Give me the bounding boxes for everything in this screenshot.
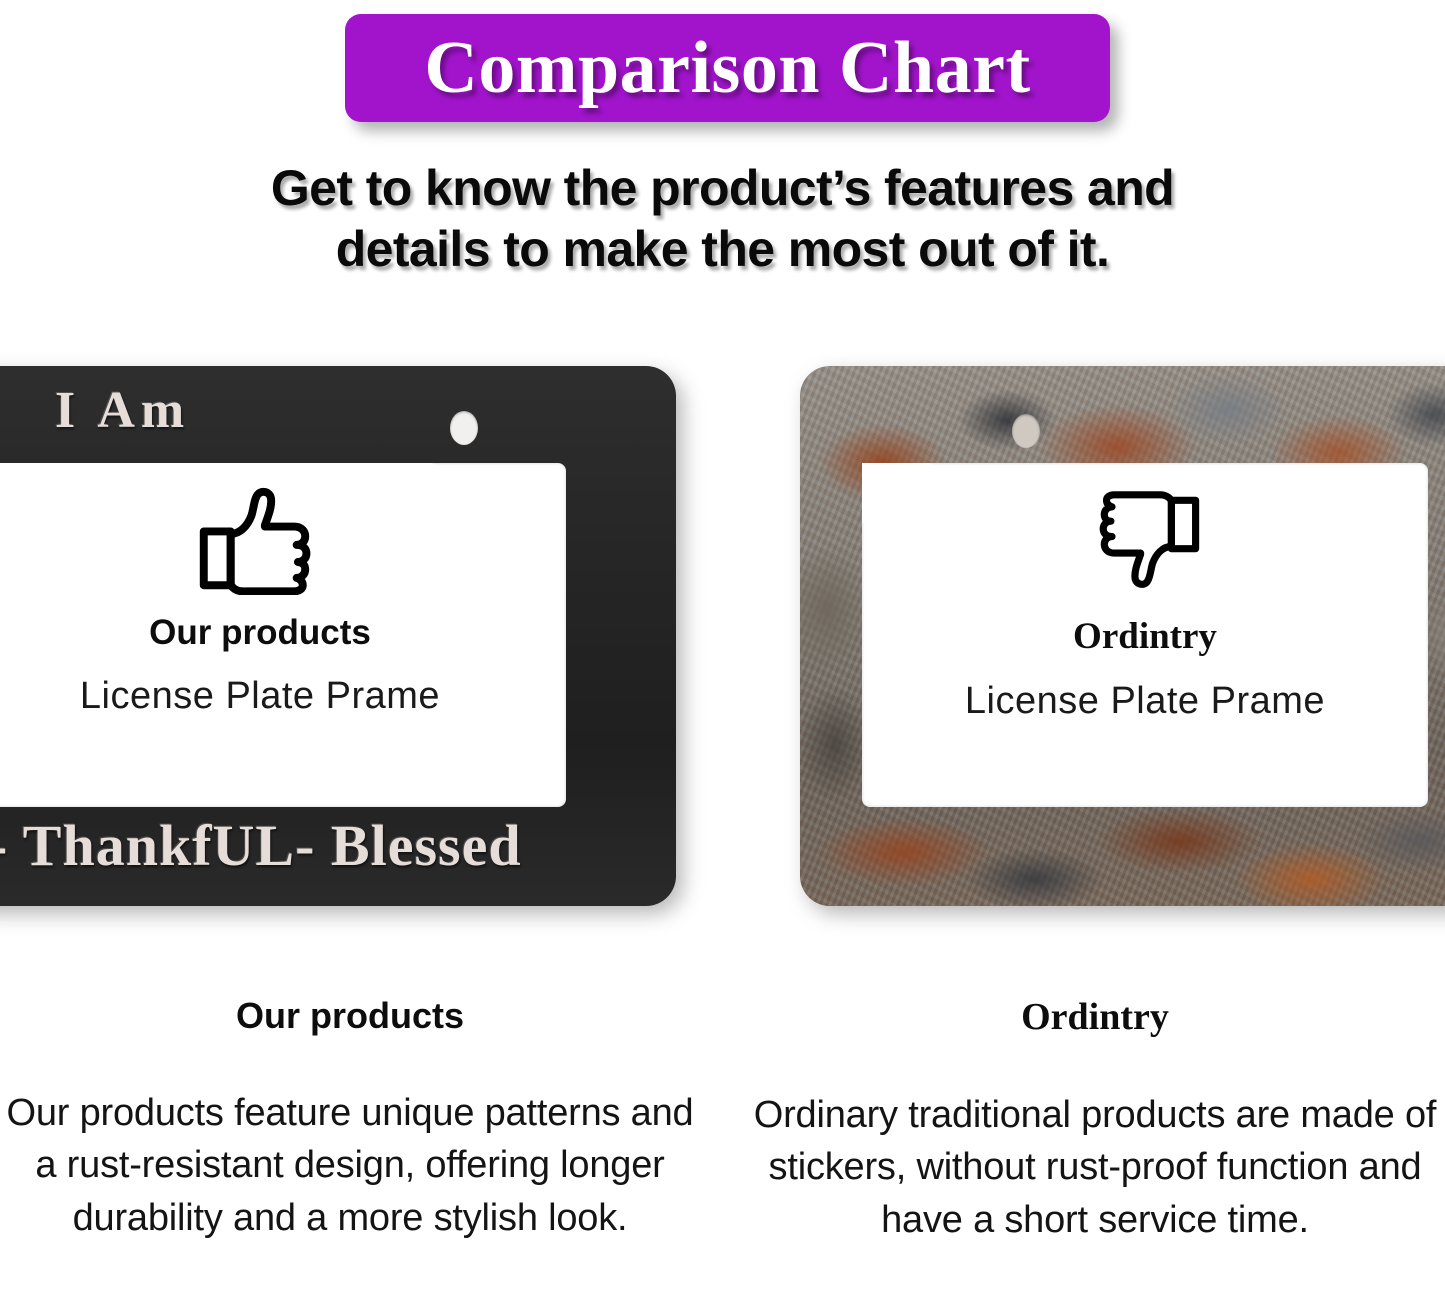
mounting-hole-ordinary — [1012, 414, 1040, 448]
plate-content-ours: Our products License Plate Prame — [0, 485, 566, 718]
plate-content-ordinary: Ordintry License Plate Prame — [862, 485, 1428, 723]
description-heading-ours: Our products — [0, 995, 700, 1037]
description-heading-ordinary: Ordintry — [745, 995, 1445, 1039]
frame-bottom-engraved-text: - ThankfUL- Blessed — [0, 812, 522, 879]
description-body-ordinary: Ordinary traditional products are made o… — [745, 1089, 1445, 1246]
column-subtitle-ours: License Plate Prame — [0, 675, 566, 718]
column-name-ordinary: Ordintry — [862, 615, 1428, 658]
frame-top-engraved-text: I Am — [55, 381, 190, 440]
description-block-ordinary: Ordintry Ordinary traditional products a… — [745, 995, 1445, 1246]
column-name-ours: Our products — [0, 613, 566, 653]
mounting-hole-ours — [450, 411, 478, 445]
description-body-ours: Our products feature unique patterns and… — [0, 1087, 700, 1244]
description-block-ours: Our products Our products feature unique… — [0, 995, 700, 1244]
thumbs-down-icon — [1090, 485, 1200, 597]
column-subtitle-ordinary: License Plate Prame — [862, 680, 1428, 723]
thumbs-up-icon — [198, 485, 322, 595]
